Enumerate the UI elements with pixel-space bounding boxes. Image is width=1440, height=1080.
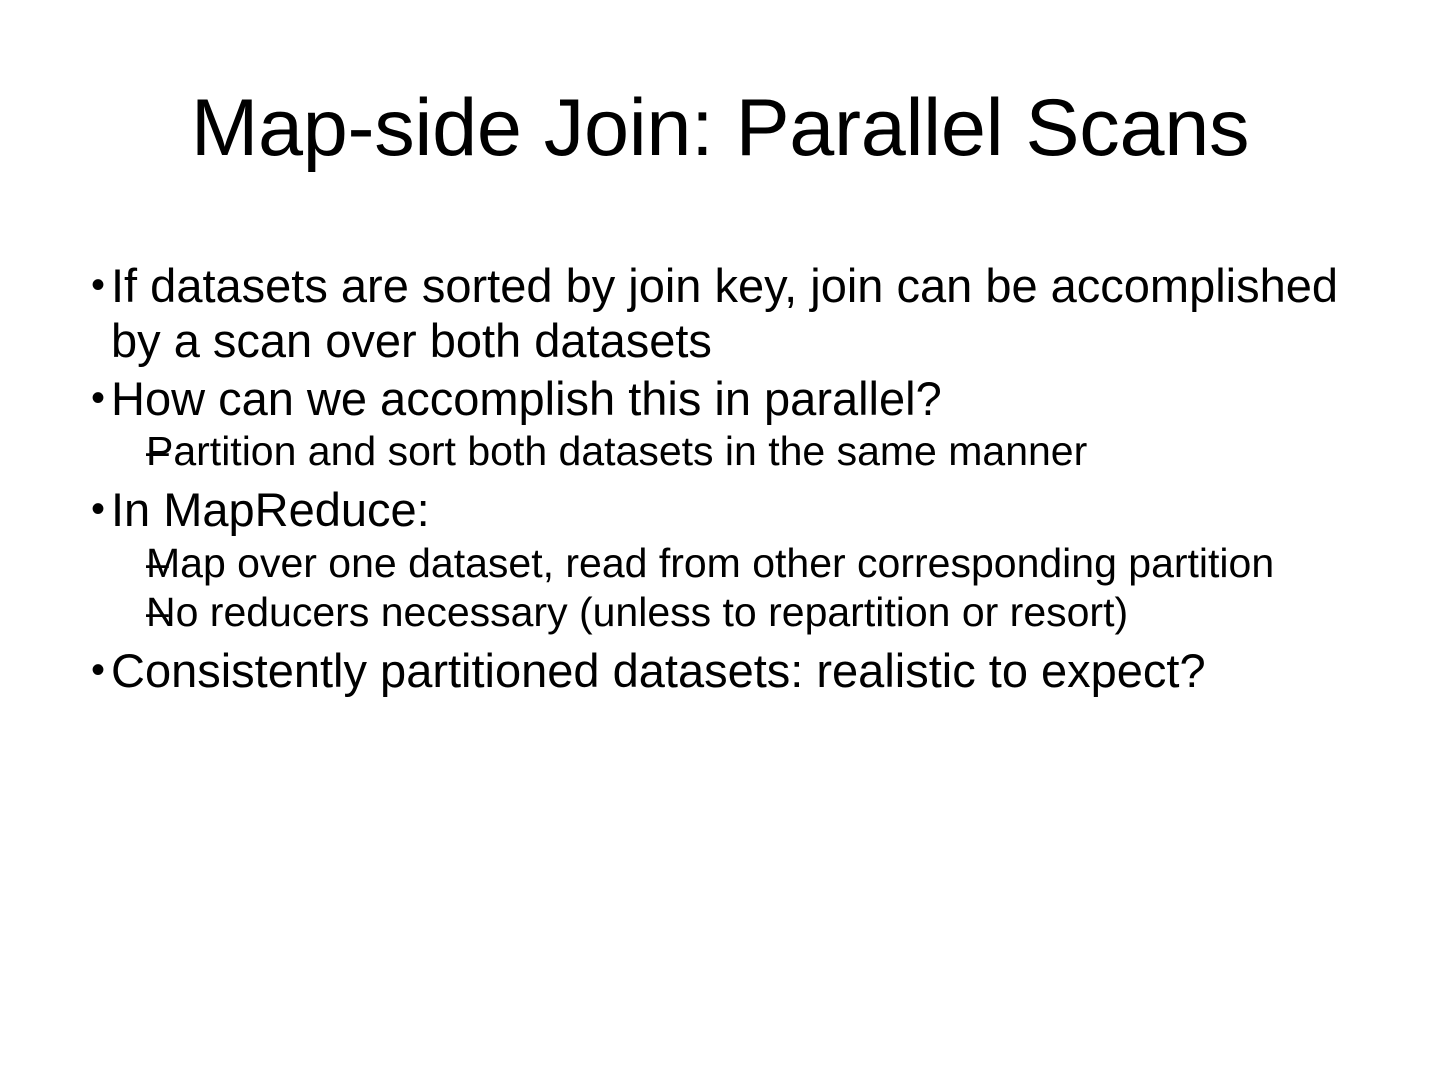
bullet-item: • In MapReduce: xyxy=(72,482,1368,537)
sub-bullet-item: – Map over one dataset, read from other … xyxy=(72,540,1368,588)
bullet-marker-icon: • xyxy=(72,482,111,537)
bullet-text: How can we accomplish this in parallel? xyxy=(111,371,1368,426)
bullet-item: • How can we accomplish this in parallel… xyxy=(72,371,1368,426)
sub-bullet-text: Partition and sort both datasets in the … xyxy=(146,428,1368,476)
slide-body-content: • If datasets are sorted by join key, jo… xyxy=(72,258,1368,700)
dash-marker-icon: – xyxy=(72,428,146,476)
bullet-text: If datasets are sorted by join key, join… xyxy=(111,258,1368,369)
bullet-item: • If datasets are sorted by join key, jo… xyxy=(72,258,1368,369)
dash-marker-icon: – xyxy=(72,589,146,637)
dash-marker-icon: – xyxy=(72,540,146,588)
bullet-marker-icon: • xyxy=(72,371,111,426)
bullet-item: • Consistently partitioned datasets: rea… xyxy=(72,643,1368,698)
bullet-marker-icon: • xyxy=(72,258,111,313)
bullet-text: Consistently partitioned datasets: reali… xyxy=(111,643,1368,698)
sub-bullet-item: – No reducers necessary (unless to repar… xyxy=(72,589,1368,637)
bullet-text: In MapReduce: xyxy=(111,482,1368,537)
sub-bullet-text: No reducers necessary (unless to reparti… xyxy=(146,589,1368,637)
sub-bullet-text: Map over one dataset, read from other co… xyxy=(146,540,1368,588)
bullet-marker-icon: • xyxy=(72,643,111,698)
slide-canvas: Map-side Join: Parallel Scans • If datas… xyxy=(0,0,1440,1080)
page-title: Map-side Join: Parallel Scans xyxy=(72,86,1368,172)
sub-bullet-item: – Partition and sort both datasets in th… xyxy=(72,428,1368,476)
